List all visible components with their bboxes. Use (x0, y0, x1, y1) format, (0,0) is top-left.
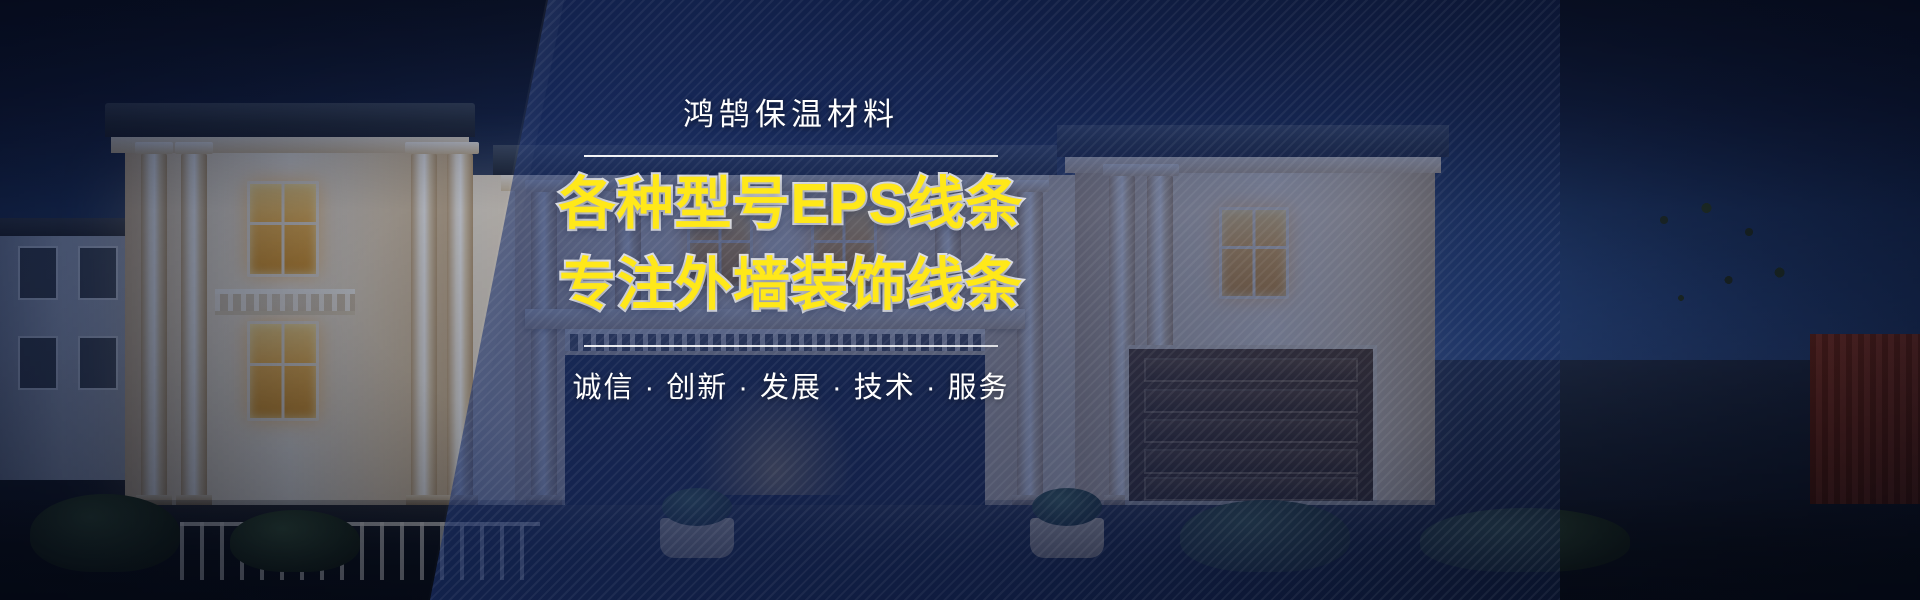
headline-line-1: 各种型号EPS线条 (556, 171, 1026, 238)
divider-top (584, 155, 998, 157)
divider-bottom (584, 345, 998, 347)
headline-line-2: 专注外墙装饰线条 (556, 252, 1026, 319)
hero-banner: 鸿鹄保温材料 各种型号EPS线条 专注外墙装饰线条 诚信 · 创新 · 发展 ·… (0, 0, 1920, 600)
banner-copy-block: 鸿鹄保温材料 各种型号EPS线条 专注外墙装饰线条 诚信 · 创新 · 发展 ·… (556, 96, 1026, 406)
company-values: 诚信 · 创新 · 发展 · 技术 · 服务 (556, 364, 1026, 406)
company-tagline: 鸿鹄保温材料 (556, 96, 1026, 133)
